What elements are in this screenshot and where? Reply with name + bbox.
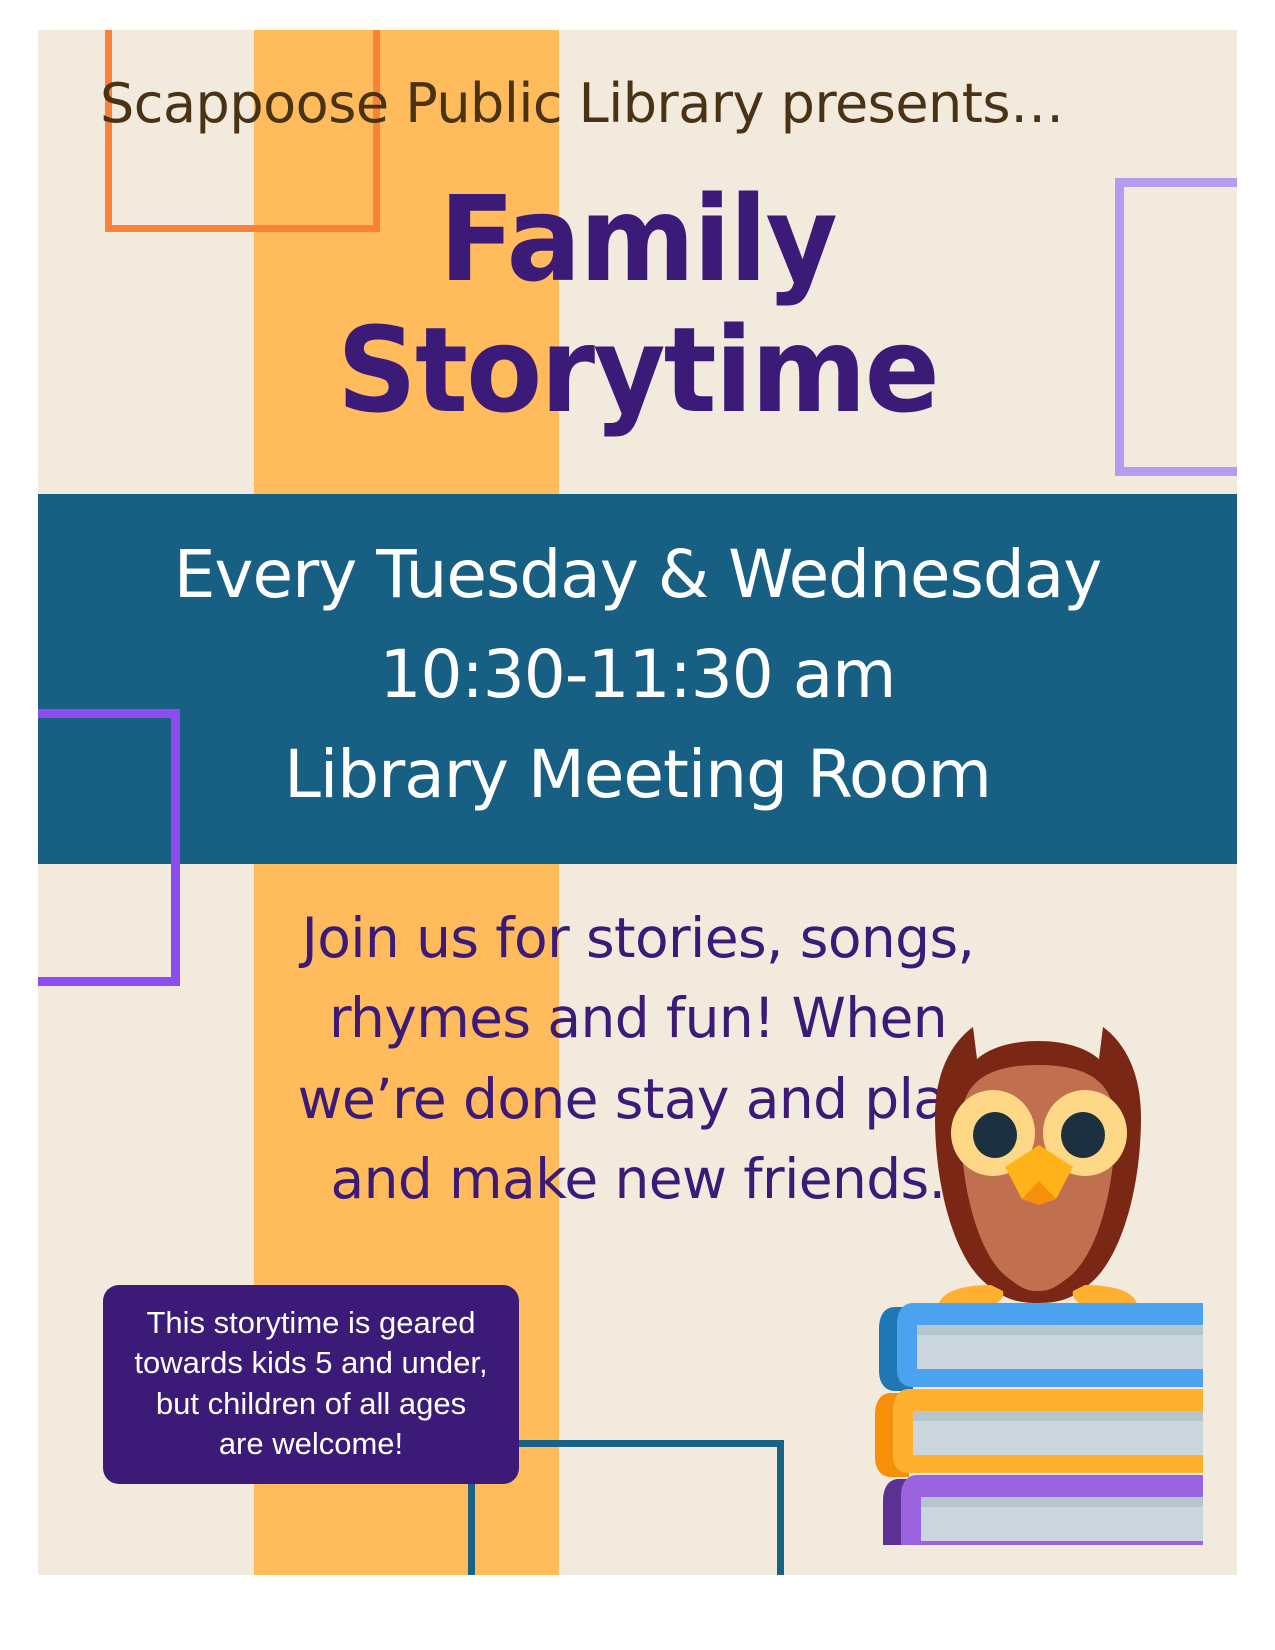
owl-icon [935, 1027, 1141, 1316]
owl-left-pupil [973, 1112, 1017, 1158]
poster-canvas: Scappoose Public Library presents… Famil… [38, 30, 1237, 1575]
page-title: Family Storytime [38, 170, 1237, 432]
note-line-2: towards kids 5 and under, [115, 1343, 507, 1383]
banner-line-location: Library Meeting Room [68, 725, 1207, 825]
title-line-family: Family [74, 170, 1201, 309]
note-line-4: are welcome! [115, 1424, 507, 1464]
book-purple [883, 1475, 1203, 1545]
title-line-storytime: Storytime [74, 309, 1201, 432]
book-blue [879, 1303, 1203, 1391]
note-line-3: but children of all ages [115, 1384, 507, 1424]
book-orange [875, 1389, 1203, 1477]
event-details-banner: Every Tuesday & Wednesday 10:30-11:30 am… [38, 494, 1237, 864]
presents-heading: Scappoose Public Library presents… [100, 72, 1200, 135]
age-note-callout: This storytime is geared towards kids 5 … [103, 1285, 519, 1484]
banner-line-time: 10:30-11:30 am [68, 625, 1207, 725]
stacked-books-icon [875, 1303, 1203, 1545]
owl-and-books-illustration [873, 985, 1203, 1545]
body-line-1: Join us for stories, songs, [158, 898, 1118, 978]
banner-line-days: Every Tuesday & Wednesday [68, 525, 1207, 625]
note-line-1: This storytime is geared [115, 1303, 507, 1343]
owl-right-pupil [1061, 1112, 1105, 1158]
